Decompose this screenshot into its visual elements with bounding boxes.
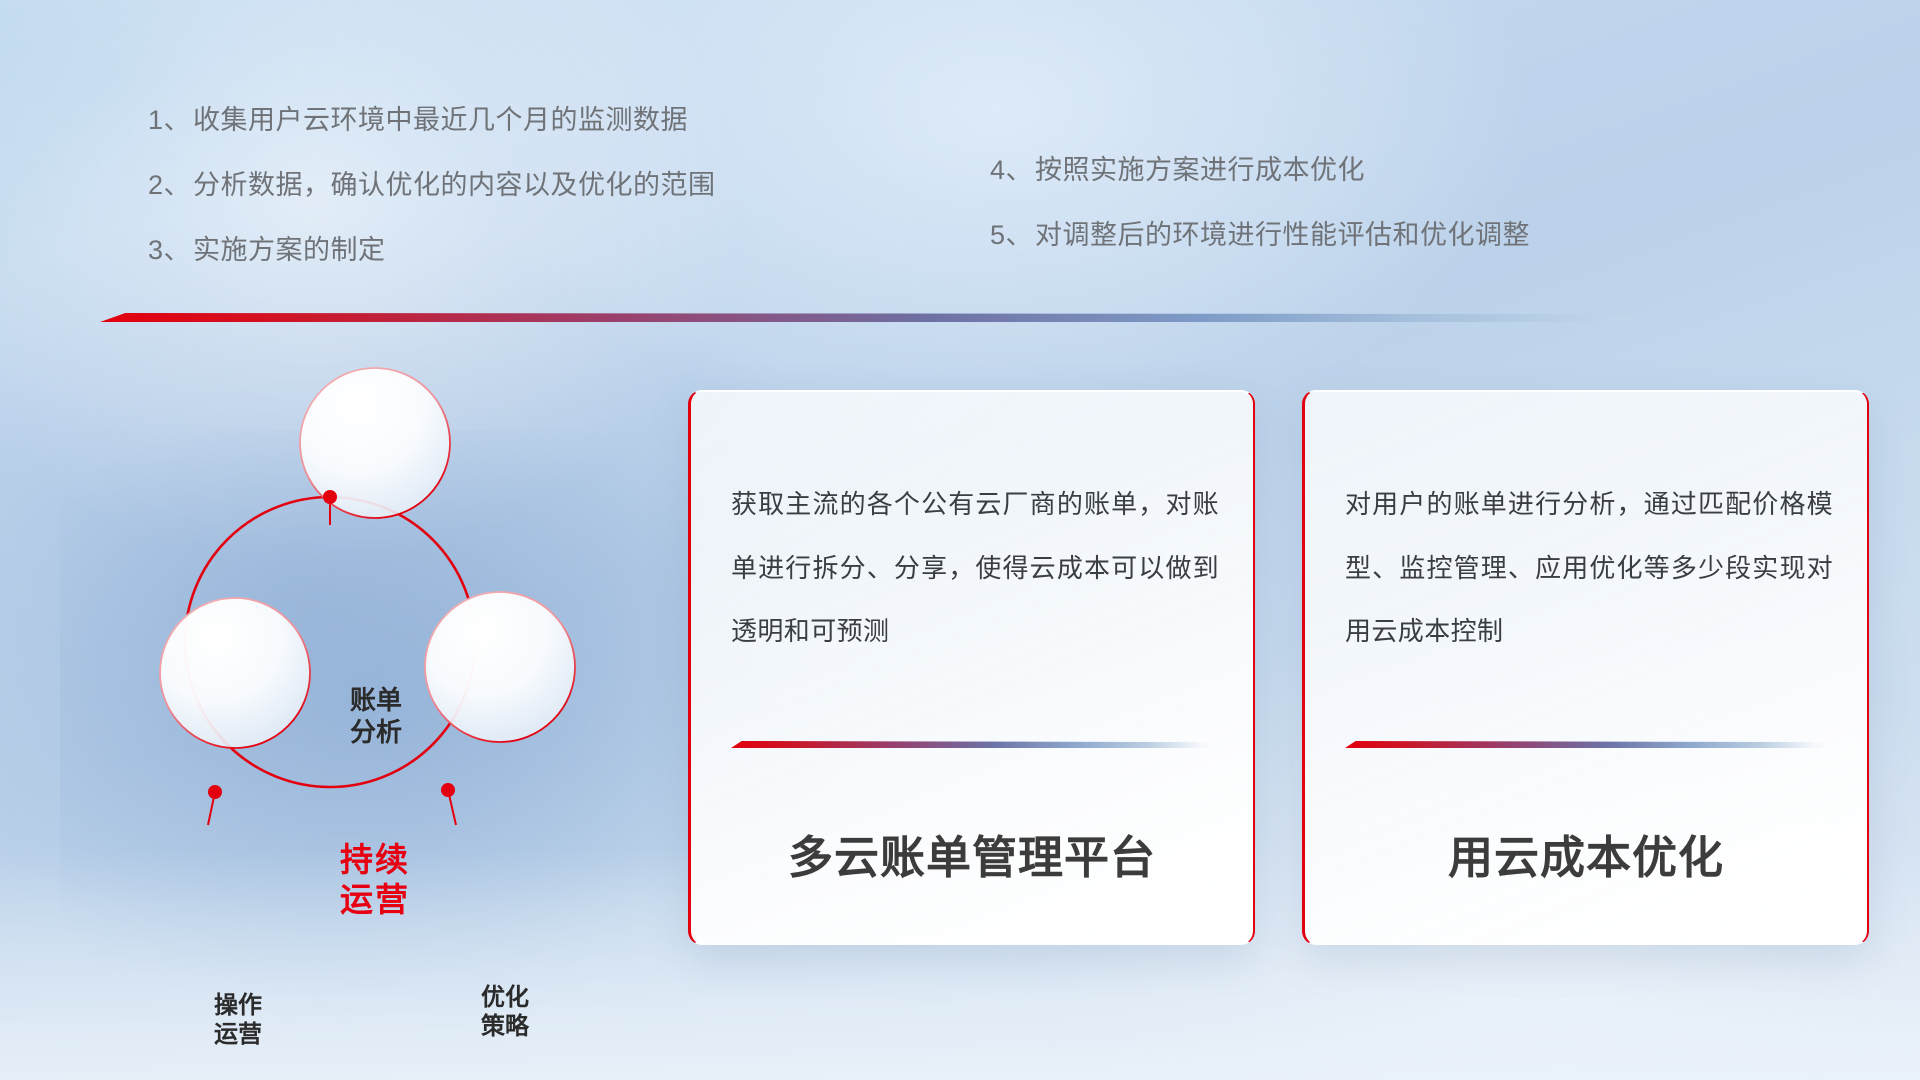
list-item: 1、 收集用户云环境中最近几个月的监测数据 <box>148 98 716 137</box>
venn-bubble-left <box>160 598 310 748</box>
venn-label-top-line2: 分析 <box>296 717 456 749</box>
steps-left-column: 1、 收集用户云环境中最近几个月的监测数据 2、 分析数据，确认优化的内容以及优… <box>148 98 716 293</box>
list-item-text: 收集用户云环境中最近几个月的监测数据 <box>193 98 688 137</box>
list-item: 5、 对调整后的环境进行性能评估和优化调整 <box>990 213 1530 252</box>
list-item-number: 2、 <box>148 163 191 202</box>
venn-label-right-line1: 优化 <box>425 983 585 1012</box>
list-item-text: 按照实施方案进行成本优化 <box>1035 148 1365 187</box>
list-item-text: 实施方案的制定 <box>193 228 386 267</box>
venn-label-left: 操作 运营 <box>158 991 318 1050</box>
list-item-number: 3、 <box>148 228 191 267</box>
venn-diagram-svg <box>80 355 600 915</box>
venn-center-line1: 持续 <box>270 840 480 880</box>
list-item: 3、 实施方案的制定 <box>148 228 716 267</box>
venn-diagram: 账单 分析 操作 运营 优化 策略 持续 运营 <box>80 355 600 915</box>
card-title: 多云账单管理平台 <box>691 821 1253 886</box>
venn-center-line2: 运营 <box>270 880 480 920</box>
venn-label-left-line1: 操作 <box>158 991 318 1020</box>
card-multicloud-billing[interactable]: 获取主流的各个公有云厂商的账单，对账单进行拆分、分享，使得云成本可以做到透明和可… <box>688 390 1255 945</box>
card-body-text: 对用户的账单进行分析，通过匹配价格模型、监控管理、应用优化等多少段实现对用云成本… <box>1345 473 1833 664</box>
venn-label-right-line2: 策略 <box>425 1012 585 1041</box>
list-item: 4、 按照实施方案进行成本优化 <box>990 148 1530 187</box>
venn-label-top: 账单 分析 <box>296 685 456 748</box>
list-item-number: 5、 <box>990 213 1033 252</box>
list-item: 2、 分析数据，确认优化的内容以及优化的范围 <box>148 163 716 202</box>
venn-label-top-line1: 账单 <box>296 685 456 717</box>
list-item-number: 1、 <box>148 98 191 137</box>
card-divider <box>731 741 1213 748</box>
venn-label-center: 持续 运营 <box>270 840 480 921</box>
card-cloud-cost-optimization[interactable]: 对用户的账单进行分析，通过匹配价格模型、监控管理、应用优化等多少段实现对用云成本… <box>1302 390 1869 945</box>
venn-dot-left <box>208 785 222 799</box>
list-item-text: 分析数据，确认优化的内容以及优化的范围 <box>193 163 716 202</box>
card-divider <box>1345 741 1827 748</box>
steps-right-column: 4、 按照实施方案进行成本优化 5、 对调整后的环境进行性能评估和优化调整 <box>990 148 1530 278</box>
slide-canvas: 1、 收集用户云环境中最近几个月的监测数据 2、 分析数据，确认优化的内容以及优… <box>0 0 1920 1080</box>
venn-dot-right <box>441 783 455 797</box>
venn-label-left-line2: 运营 <box>158 1020 318 1049</box>
section-divider <box>100 313 1682 322</box>
card-body-text: 获取主流的各个公有云厂商的账单，对账单进行拆分、分享，使得云成本可以做到透明和可… <box>731 473 1219 664</box>
list-item-text: 对调整后的环境进行性能评估和优化调整 <box>1035 213 1530 252</box>
card-title: 用云成本优化 <box>1305 821 1867 886</box>
venn-bubble-top <box>300 368 450 518</box>
venn-dot-top <box>323 490 337 504</box>
list-item-number: 4、 <box>990 148 1033 187</box>
venn-label-right: 优化 策略 <box>425 983 585 1042</box>
